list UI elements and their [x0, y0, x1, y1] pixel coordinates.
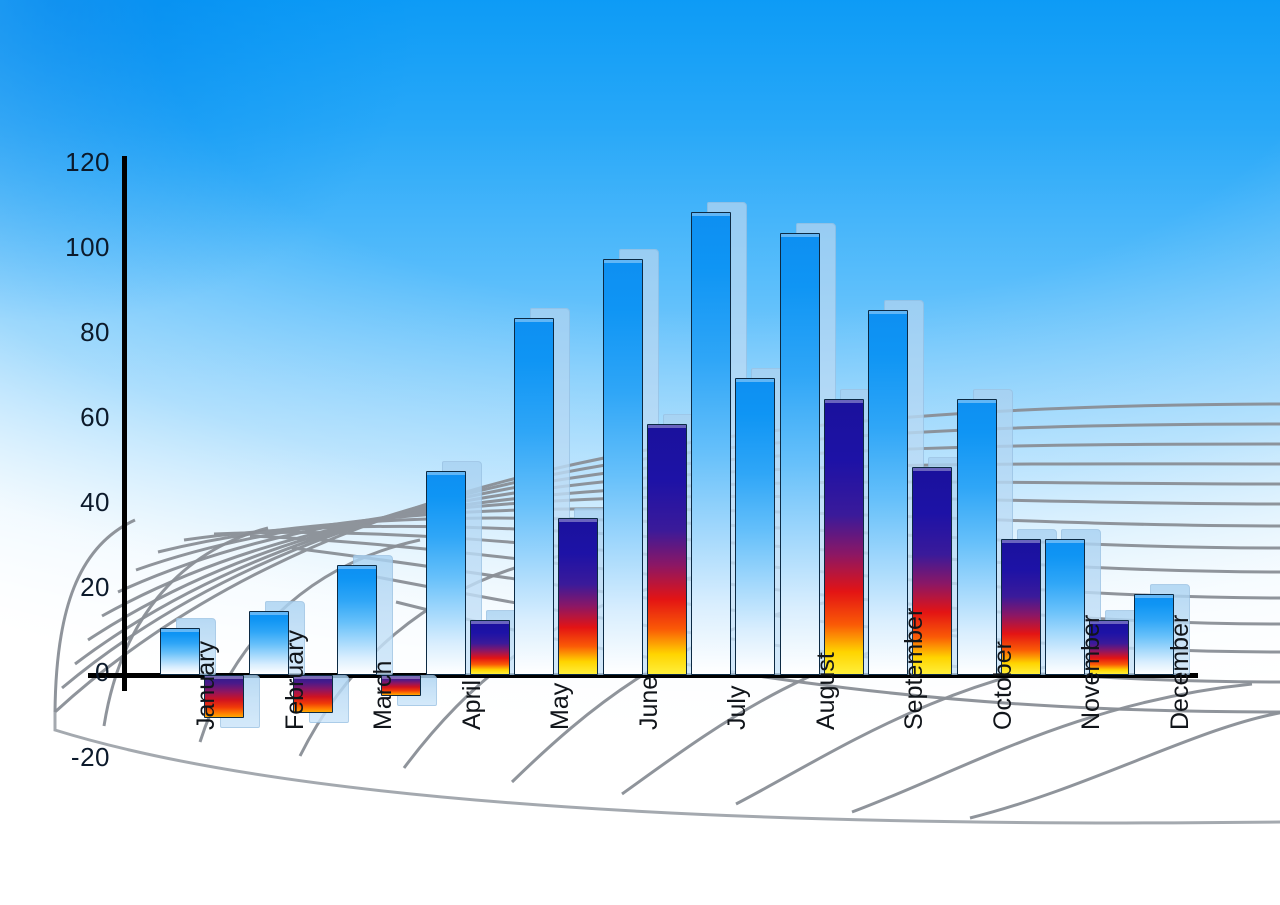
bar-may-series2[interactable]: [558, 518, 598, 675]
y-tick-label: 0: [0, 657, 110, 688]
bar-july-series2[interactable]: [735, 378, 775, 676]
y-tick-label: 100: [0, 232, 110, 263]
bar-top-highlight: [781, 234, 819, 237]
x-tick-label-march: March: [369, 661, 398, 730]
bar-top-highlight: [559, 519, 597, 522]
x-tick-label-july: July: [723, 686, 752, 730]
bar-june-series2[interactable]: [647, 424, 687, 675]
x-tick-label-may: May: [546, 683, 575, 730]
x-tick-label-october: October: [989, 641, 1018, 730]
bar-top-highlight: [692, 213, 730, 216]
bar-may-series1[interactable]: [514, 318, 554, 675]
x-tick-label-june: June: [635, 676, 664, 730]
bar-august-series2[interactable]: [824, 399, 864, 675]
bar-march-series1[interactable]: [337, 565, 377, 676]
bar-june-series1[interactable]: [603, 259, 643, 676]
bar-august-series1[interactable]: [780, 233, 820, 675]
y-tick-label: -20: [0, 742, 110, 773]
bar-top-highlight: [338, 566, 376, 569]
y-tick-label: 80: [0, 317, 110, 348]
y-tick-label: 40: [0, 487, 110, 518]
bar-april-series2[interactable]: [470, 620, 510, 675]
bar-top-highlight: [1002, 540, 1040, 543]
bar-top-highlight: [1046, 540, 1084, 543]
bar-top-highlight: [161, 629, 199, 632]
x-tick-label-january: January: [192, 641, 221, 730]
y-tick-label: 120: [0, 147, 110, 178]
bar-top-highlight: [825, 400, 863, 403]
x-tick-label-april: April: [458, 680, 487, 730]
x-tick-label-august: August: [812, 652, 841, 730]
bar-top-highlight: [250, 612, 288, 615]
bar-top-highlight: [604, 260, 642, 263]
bar-top-highlight: [648, 425, 686, 428]
bar-top-highlight: [958, 400, 996, 403]
x-tick-label-december: December: [1166, 615, 1195, 730]
y-axis-line: [122, 156, 127, 691]
y-zero-tick: [106, 673, 142, 677]
bar-top-highlight: [1135, 595, 1173, 598]
bar-july-series1[interactable]: [691, 212, 731, 675]
bar-top-highlight: [515, 319, 553, 322]
bar-top-highlight: [736, 379, 774, 382]
chart-canvas: -20020406080100120 JanuaryFebruaryMarchA…: [0, 0, 1280, 905]
bar-top-highlight: [471, 621, 509, 624]
y-tick-label: 20: [0, 572, 110, 603]
x-tick-label-november: November: [1077, 615, 1106, 730]
x-tick-label-february: February: [281, 630, 310, 730]
y-tick-label: 60: [0, 402, 110, 433]
x-tick-label-september: September: [900, 608, 929, 730]
bar-april-series1[interactable]: [426, 471, 466, 675]
plot-area: -20020406080100120 JanuaryFebruaryMarchA…: [0, 0, 1280, 905]
bar-top-highlight: [869, 311, 907, 314]
bar-october-series1[interactable]: [957, 399, 997, 675]
bar-top-highlight: [913, 468, 951, 471]
bar-top-highlight: [427, 472, 465, 475]
